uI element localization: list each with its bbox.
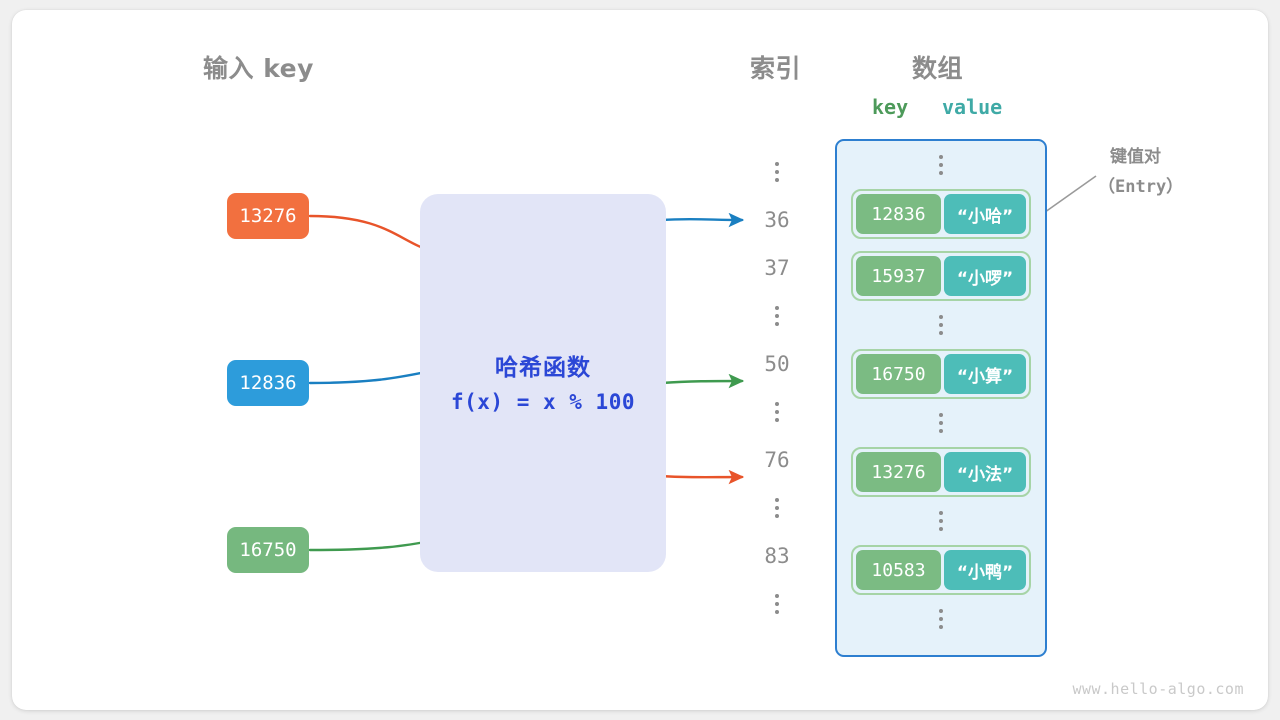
array-ellipsis: [939, 301, 943, 349]
entry-annotation-line1: 键值对: [1098, 142, 1183, 167]
array-ellipsis: [939, 595, 943, 643]
entry-value: “小算”: [944, 354, 1026, 394]
entry-key: 12836: [856, 194, 941, 234]
entry-4[interactable]: 10583 “小鸭”: [851, 545, 1031, 595]
heading-input-key: 输入 key: [203, 49, 314, 85]
diagram-canvas: 输入 key 索引 数组 key value 13276 12836 16750…: [0, 0, 1280, 720]
index-ellipsis: [742, 148, 812, 196]
input-key-box-2[interactable]: 16750: [227, 527, 309, 573]
entry-value: “小哈”: [944, 194, 1026, 234]
index-ellipsis: [742, 388, 812, 436]
index-label-36: 36: [742, 196, 812, 244]
hash-function-formula: f(x) = x % 100: [420, 390, 666, 414]
index-label-50: 50: [742, 340, 812, 388]
heading-index: 索引: [750, 49, 801, 85]
entry-2[interactable]: 16750 “小算”: [851, 349, 1031, 399]
column-header-value: value: [942, 95, 1002, 119]
entry-annotation: 键值对 （Entry）: [1098, 142, 1183, 197]
entry-1[interactable]: 15937 “小啰”: [851, 251, 1031, 301]
input-key-box-0[interactable]: 13276: [227, 193, 309, 239]
array-container: 12836 “小哈” 15937 “小啰” 16750 “小算” 13276 “…: [835, 139, 1047, 657]
index-column: 36 37 50 76 83: [742, 148, 812, 628]
entry-0[interactable]: 12836 “小哈”: [851, 189, 1031, 239]
index-ellipsis: [742, 484, 812, 532]
hash-function-title: 哈希函数: [420, 348, 666, 382]
column-header-key: key: [872, 95, 908, 119]
entry-annotation-line2: （Entry）: [1098, 172, 1183, 197]
index-ellipsis: [742, 580, 812, 628]
entry-value: “小法”: [944, 452, 1026, 492]
entry-3[interactable]: 13276 “小法”: [851, 447, 1031, 497]
hash-function-box: 哈希函数 f(x) = x % 100: [420, 194, 666, 572]
watermark: www.hello-algo.com: [1072, 680, 1244, 698]
heading-array: 数组: [912, 49, 963, 85]
array-ellipsis: [939, 497, 943, 545]
entry-value: “小啰”: [944, 256, 1026, 296]
entry-key: 15937: [856, 256, 941, 296]
input-key-box-1[interactable]: 12836: [227, 360, 309, 406]
array-ellipsis: [939, 141, 943, 189]
index-label-83: 83: [742, 532, 812, 580]
entry-key: 16750: [856, 354, 941, 394]
array-slots: 12836 “小哈” 15937 “小啰” 16750 “小算” 13276 “…: [837, 141, 1045, 655]
index-label-37: 37: [742, 244, 812, 292]
entry-key: 13276: [856, 452, 941, 492]
index-label-76: 76: [742, 436, 812, 484]
index-ellipsis: [742, 292, 812, 340]
entry-value: “小鸭”: [944, 550, 1026, 590]
array-ellipsis: [939, 399, 943, 447]
entry-key: 10583: [856, 550, 941, 590]
